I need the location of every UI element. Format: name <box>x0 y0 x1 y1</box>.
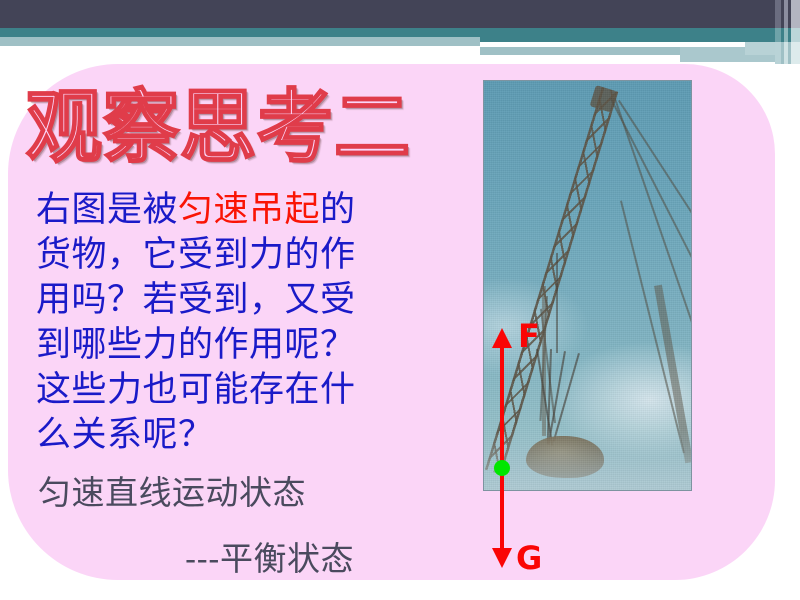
force-g-label: G <box>516 542 542 574</box>
body-paragraph: 右图是被匀速吊起的货物，它受到力的作用吗？若受到，又受到哪些力的作用呢？这些力也… <box>36 188 466 458</box>
body-line-2: 货物，它受到力的作 <box>36 233 466 278</box>
slide-title: 观察思考二 <box>26 82 446 174</box>
body-line-6: 么关系呢？ <box>36 413 466 458</box>
force-vector-diagram: F G <box>470 320 560 585</box>
body-line-1-segment-3: 的 <box>320 190 356 230</box>
header-stripe-15 <box>791 42 800 64</box>
body-line-5-segment-1: 这些力也可能存在什 <box>36 370 356 410</box>
slide-canvas: 观察思考二 右图是被匀速吊起的货物，它受到力的作用吗？若受到，又受到哪些力的作用… <box>0 0 800 600</box>
body-line-4-segment-1: 到哪些力的作用呢？ <box>36 325 356 365</box>
body-line-1: 右图是被匀速吊起的 <box>36 188 466 233</box>
header-stripe-10 <box>791 28 800 42</box>
body-line-5: 这些力也可能存在什 <box>36 368 466 413</box>
force-origin-dot <box>494 460 510 476</box>
conclusion-line-equilibrium: ---平衡状态 <box>185 540 354 578</box>
header-bar-teal-left <box>0 28 480 37</box>
header-stripe-5 <box>791 0 800 28</box>
body-line-3-segment-1: 用吗？若受到，又受 <box>36 280 356 320</box>
header-bar-lightblue-left <box>0 37 480 46</box>
body-line-2-segment-1: 货物，它受到力的作 <box>36 235 356 275</box>
body-line-6-segment-1: 么关系呢？ <box>36 415 214 455</box>
body-line-1-segment-2: 匀速吊起 <box>178 190 320 230</box>
force-f-shaft <box>500 344 504 466</box>
body-line-3: 用吗？若受到，又受 <box>36 278 466 323</box>
force-g-arrowhead <box>492 548 512 568</box>
body-line-4: 到哪些力的作用呢？ <box>36 323 466 368</box>
force-f-label: F <box>518 320 540 352</box>
header-bar-dark <box>0 0 775 28</box>
header-bar-lightblue-mid <box>480 47 680 55</box>
body-line-1-segment-1: 右图是被 <box>36 190 178 230</box>
header-bar-teal-right <box>480 28 780 42</box>
force-g-shaft <box>500 466 504 561</box>
header-banner <box>0 0 800 72</box>
conclusion-line-uniform-motion: 匀速直线运动状态 <box>38 474 306 512</box>
